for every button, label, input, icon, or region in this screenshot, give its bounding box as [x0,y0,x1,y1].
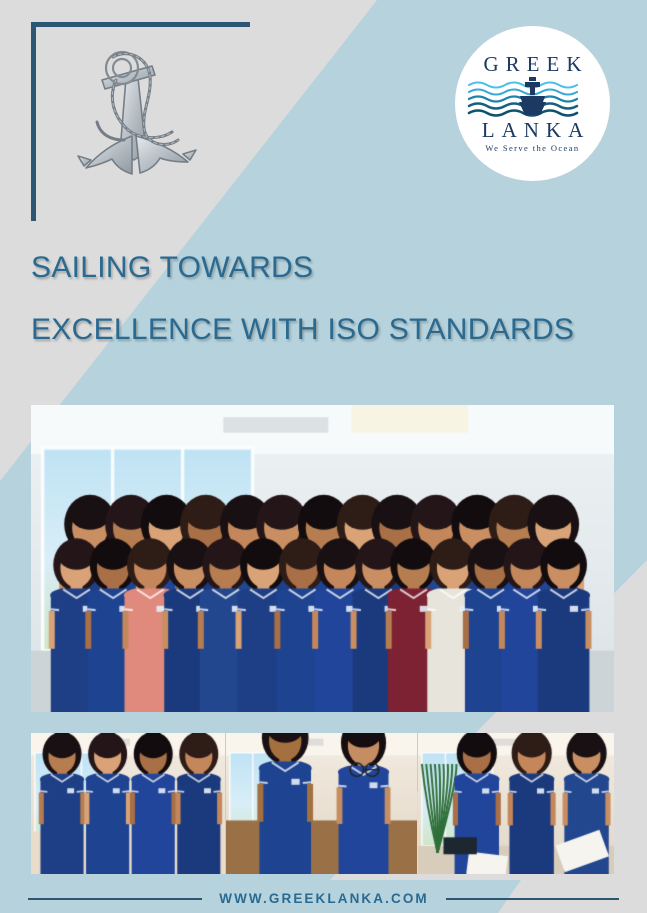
logo-tagline: We Serve the Ocean [467,144,599,153]
footer-website-url[interactable]: WWW.GREEKLANKA.COM [219,891,429,906]
headline-line-2: EXCELLENCE WITH ISO STANDARDS [31,314,631,346]
attendees-listening-photo [226,733,417,874]
ship-waves-icon [467,76,599,120]
headline-line-1: SAILING TOWARDS [31,252,631,284]
footer-rule-left [28,898,202,900]
logo-word-greek: GREEK [467,54,599,75]
corner-bracket-vertical [31,22,36,221]
poster-root: GREEK [0,0,647,913]
footer-rule-right [446,898,619,900]
men-taking-notes-photo [418,733,614,874]
page-title: SAILING TOWARDS EXCELLENCE WITH ISO STAN… [31,252,631,345]
anchor-icon [64,44,206,184]
greek-lanka-logo: GREEK [455,26,610,181]
logo-word-lanka: LANKA [467,120,599,141]
corner-bracket-horizontal [31,22,250,27]
team-group-photo [31,405,614,712]
footer: WWW.GREEKLANKA.COM [0,884,647,913]
seated-women-photo [31,733,225,874]
